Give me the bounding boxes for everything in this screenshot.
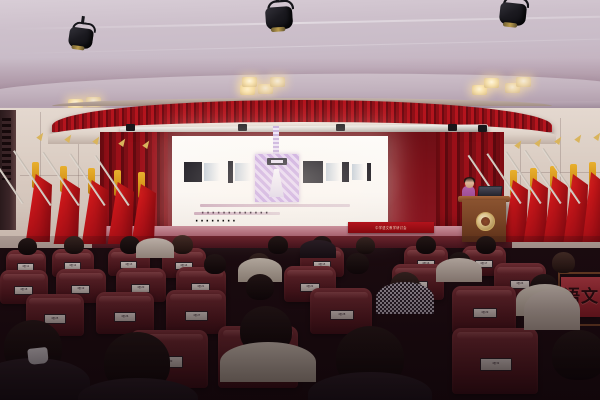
seat-number: 4区25 — [51, 318, 58, 320]
seat-number-plate: 4区28 — [330, 310, 354, 320]
downlight-icon — [484, 78, 499, 88]
seat-number: 4区32 — [492, 363, 499, 365]
audience-head — [18, 238, 37, 255]
audience-shoulders — [376, 282, 434, 314]
stage-spotlight-icon — [263, 0, 294, 35]
batten-clamp — [448, 124, 457, 131]
auditorium-photo: ············· ········ 中学语文教学研讨会 — [0, 0, 600, 400]
audience-shoulders — [436, 258, 482, 282]
stage-spotlight-icon — [497, 0, 529, 31]
slide-image-block — [184, 162, 202, 182]
seat-number: 4区20 — [137, 287, 144, 289]
seat-number-plate: 4区32 — [480, 358, 512, 371]
slide-text-line: ········ — [194, 212, 280, 215]
seat-number: 4区22 — [306, 286, 313, 288]
wall-vent-grille — [2, 118, 11, 180]
slide-image-block — [235, 163, 251, 181]
audience-head — [246, 274, 274, 300]
audience-head — [416, 236, 436, 254]
speaker-head — [465, 178, 474, 188]
seat-number: 4区18 — [20, 289, 27, 291]
audience-head — [356, 237, 375, 254]
seat: 4区29 — [452, 286, 516, 334]
audience-head — [552, 330, 600, 380]
audience-shoulders — [308, 372, 432, 400]
audience-shoulders — [0, 358, 90, 400]
seat-number: 4区27 — [193, 315, 200, 317]
seat-number-plate: 4区18 — [14, 286, 33, 295]
laptop-screen — [479, 187, 502, 196]
seat-number-plate: 4区19 — [71, 285, 90, 294]
seat: 4区27 — [166, 290, 226, 334]
audience-head — [552, 252, 575, 273]
audience-head — [204, 254, 226, 274]
audience-head — [476, 236, 496, 254]
batten-clamp — [336, 124, 345, 131]
downlight-icon — [270, 77, 285, 87]
downlight-icon — [242, 77, 257, 87]
stage-curtain-left — [100, 132, 168, 240]
stage-front-banner: 中学语文教学研讨会 — [348, 222, 434, 233]
face-mask — [27, 347, 49, 365]
seat-number: 4区12 — [69, 265, 76, 267]
slide-image-block — [367, 163, 371, 181]
seat-number-plate: 4区29 — [473, 308, 497, 318]
stage-spotlight-icon — [66, 20, 96, 53]
school-crest-icon — [476, 212, 495, 231]
seat-number: 4区13 — [125, 264, 132, 266]
audience-shoulders — [300, 240, 336, 258]
seat: 4区32 — [452, 328, 538, 394]
seat-number: 4区28 — [338, 314, 345, 316]
batten-clamp — [126, 124, 135, 131]
slide-hanging-scroll — [273, 126, 279, 154]
audience-shoulders — [220, 342, 316, 382]
slide-image-block — [204, 163, 220, 181]
slide-image-block — [326, 163, 340, 181]
audience-head — [346, 253, 369, 274]
projection-screen: ············· ········ — [172, 136, 388, 226]
seat-number: 4区24 — [516, 283, 523, 285]
seat-number: 4区11 — [22, 266, 29, 268]
slide-graphic-label — [267, 158, 287, 165]
audience-shoulders — [524, 290, 580, 330]
seat-number: 4区21 — [197, 286, 204, 288]
slide-text-line: ············· — [200, 204, 350, 207]
slide-image-block — [303, 161, 323, 183]
slide-image-block — [352, 164, 364, 180]
seat-number: 4区29 — [481, 312, 488, 314]
slide-image-block — [342, 162, 349, 182]
seat: 4区26 — [96, 292, 154, 334]
batten-clamp — [238, 124, 247, 131]
side-banner-char-2: 文 — [581, 289, 598, 306]
audience-head — [64, 236, 84, 254]
seat-number: 4区19 — [77, 288, 84, 290]
seat-number-plate: 4区27 — [185, 311, 208, 321]
slide-image-block — [228, 161, 233, 183]
batten-clamp — [478, 125, 487, 132]
downlight-icon — [516, 77, 531, 87]
audience-head — [172, 235, 193, 254]
audience-head — [268, 236, 288, 254]
stage-banner-text: 中学语文教学研讨会 — [375, 225, 406, 230]
audience-shoulders — [136, 238, 174, 258]
seat-number-plate: 4区25 — [44, 314, 66, 324]
seat-number: 4区26 — [121, 316, 128, 318]
seat-number-plate: 4区26 — [114, 312, 136, 322]
seat-number: 4区17 — [480, 263, 487, 265]
